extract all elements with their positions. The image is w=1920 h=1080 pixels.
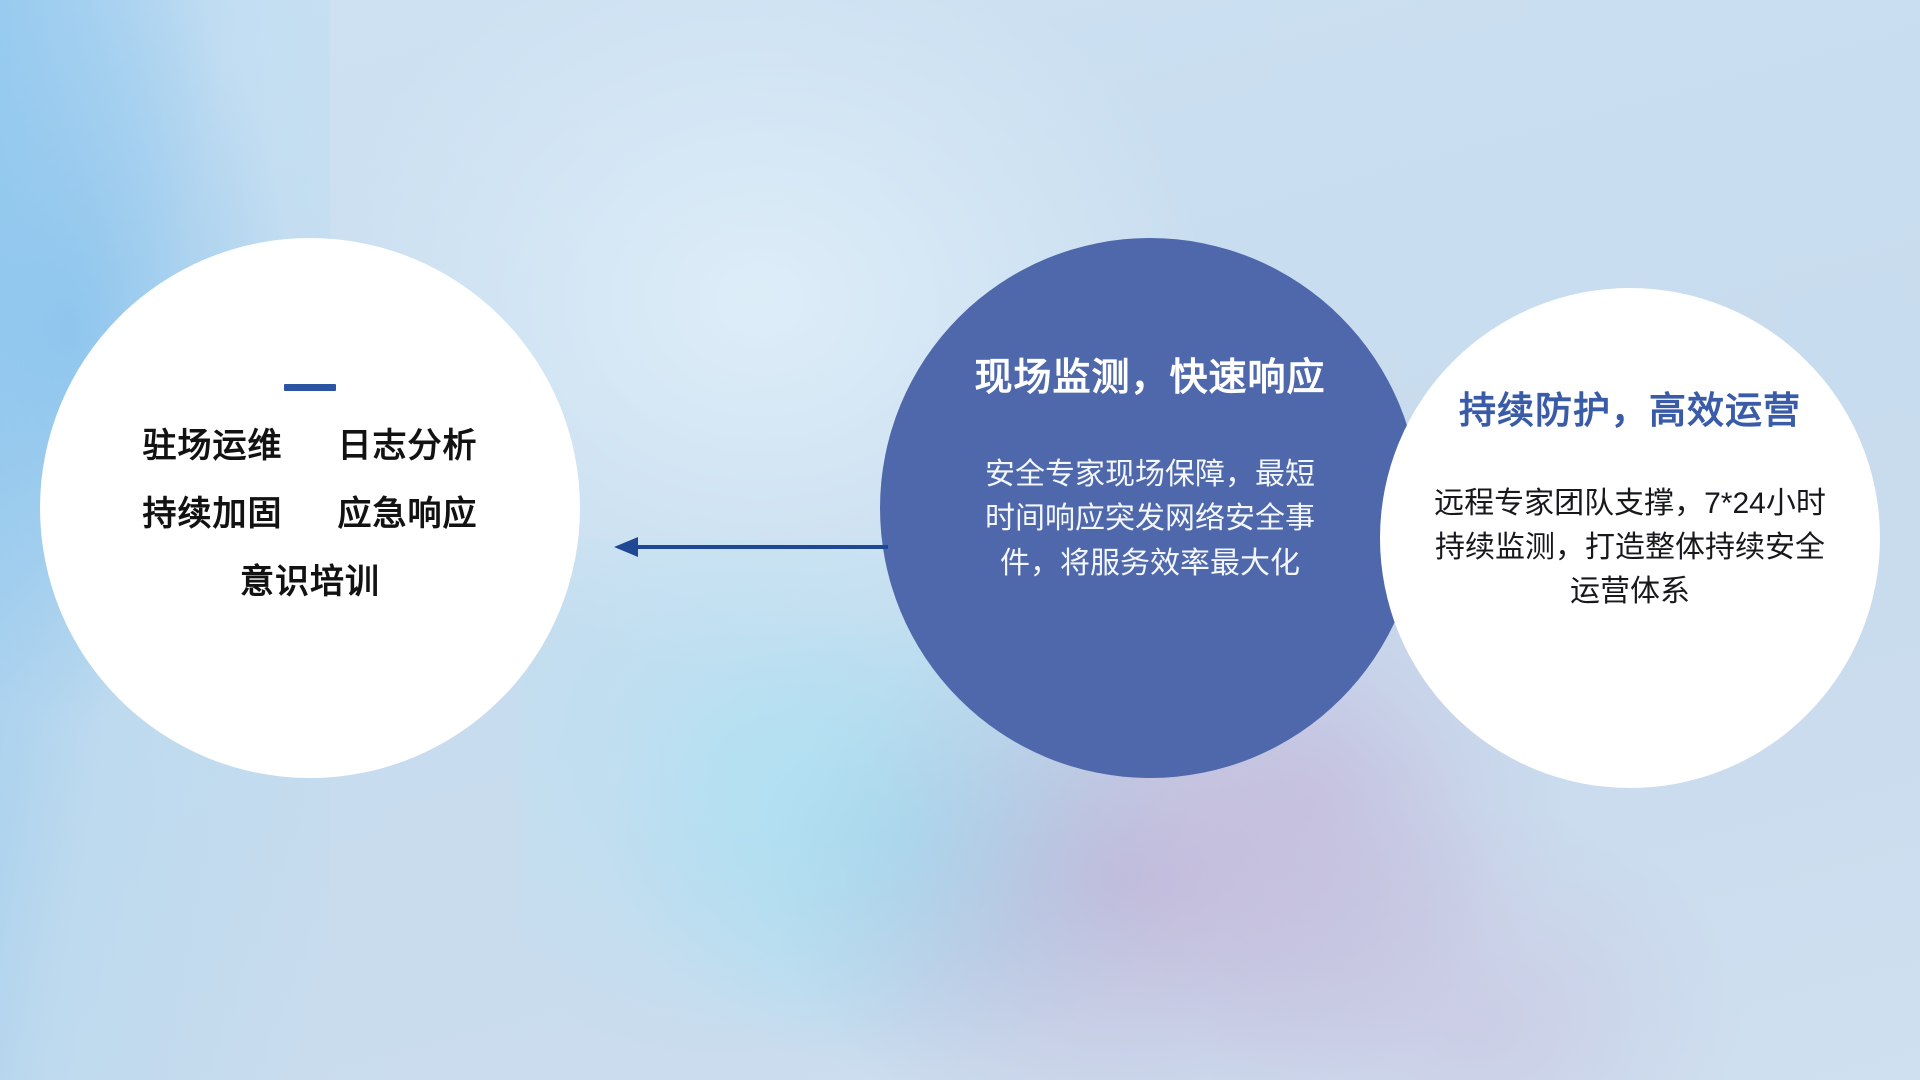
keyword-row: 持续加固 应急响应 (143, 497, 478, 531)
continuous-body: 远程专家团队支撑，7*24小时持续监测，打造整体持续安全运营体系 (1425, 482, 1835, 613)
keyword-item: 意识培训 (240, 565, 380, 599)
arrow-left-icon (612, 534, 892, 560)
keyword-row: 意识培训 (143, 565, 478, 599)
keyword-item: 应急响应 (337, 497, 477, 531)
keyword-row: 驻场运维 日志分析 (143, 429, 478, 463)
onsite-title: 现场监测，快速响应 (974, 346, 1325, 401)
capability-circle-keywords: 驻场运维 日志分析 持续加固 应急响应 意识培训 (40, 238, 580, 778)
capability-circle-onsite: 现场监测，快速响应 安全专家现场保障，最短时间响应突发网络安全事件，将服务效率最… (880, 238, 1420, 778)
slide-canvas: 驻场运维 日志分析 持续加固 应急响应 意识培训 现场监测，快速响应 安全专家现… (0, 0, 1920, 1080)
divider-dash (284, 384, 336, 391)
keyword-item: 日志分析 (337, 429, 477, 463)
onsite-body: 安全专家现场保障，最短时间响应突发网络安全事件，将服务效率最大化 (985, 453, 1315, 586)
keyword-item: 持续加固 (143, 497, 283, 531)
keyword-item: 驻场运维 (143, 429, 283, 463)
keyword-list: 驻场运维 日志分析 持续加固 应急响应 意识培训 (143, 429, 478, 599)
continuous-title: 持续防护，高效运营 (1459, 380, 1801, 434)
flow-arrow-left (612, 534, 892, 560)
capability-circle-continuous: 持续防护，高效运营 远程专家团队支撑，7*24小时持续监测，打造整体持续安全运营… (1380, 288, 1880, 788)
